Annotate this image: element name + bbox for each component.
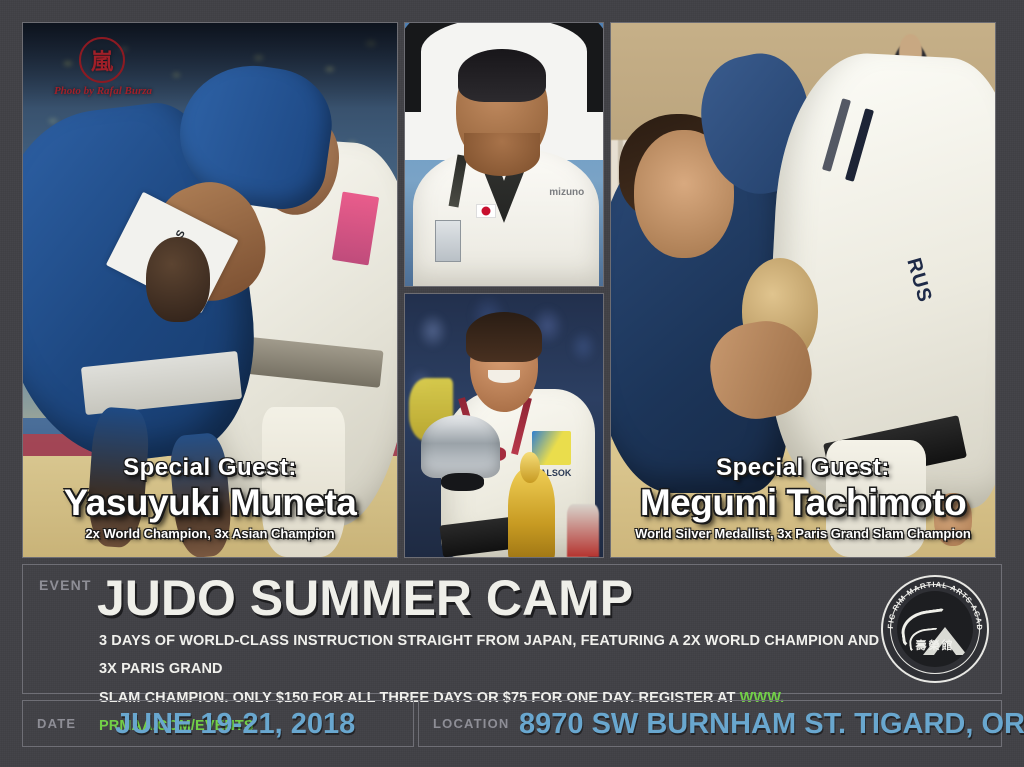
location-label: LOCATION: [433, 716, 510, 731]
page-title: JUDO SUMMER CAMP: [97, 569, 633, 627]
muneta-action-photo: NO JU de SANTOS 嵐 Photo: [22, 22, 398, 558]
silver-trophy-cup: [421, 415, 500, 478]
tachimoto-trophy-photo: ALSOK: [404, 293, 604, 558]
date-value: JUNE 19-21, 2018: [115, 708, 355, 741]
brand-mark: mizuno: [549, 187, 575, 199]
svg-text:PACIFIC RIM MARTIAL ARTS ACADE: PACIFIC RIM MARTIAL ARTS ACADEMY: [881, 575, 984, 631]
date-label: DATE: [37, 716, 76, 731]
japan-flag-patch-icon: [476, 204, 496, 218]
center-photo-column: mizuno: [404, 22, 604, 558]
event-info-block: EVENT JUDO SUMMER CAMP 3 DAYS OF WORLD-C…: [22, 564, 1002, 694]
poster-canvas: NO JU de SANTOS 嵐 Photo: [0, 0, 1024, 767]
muneta-portrait-photo: mizuno: [404, 22, 604, 287]
event-description-line1: 3 DAYS OF WORLD-CLASS INSTRUCTION STRAIG…: [99, 633, 879, 677]
muneta-action-scene: NO JU de SANTOS: [23, 23, 397, 557]
prmaa-logo: 壽榮館 PACIFIC RIM MARTIAL ARTS ACADEMY: [881, 575, 989, 683]
tachimoto-trophy-scene: ALSOK: [405, 294, 603, 557]
logo-arc-text: PACIFIC RIM MARTIAL ARTS ACADEMY: [881, 575, 989, 683]
muneta-portrait-scene: mizuno: [405, 23, 603, 286]
location-value: 8970 SW BURNHAM ST. TIGARD, OR 97223: [519, 708, 1024, 741]
photo-collage: NO JU de SANTOS 嵐 Photo: [22, 22, 1002, 558]
event-label: EVENT: [39, 577, 92, 593]
tachimoto-action-scene: RUS TACHIMOTO 4:3 RUS: [611, 23, 995, 557]
credential-badge: [435, 220, 461, 262]
tachimoto-action-photo: RUS TACHIMOTO 4:3 RUS Special: [610, 22, 996, 558]
date-block: DATE JUNE 19-21, 2018: [22, 700, 414, 747]
location-block: LOCATION 8970 SW BURNHAM ST. TIGARD, OR …: [418, 700, 1002, 747]
